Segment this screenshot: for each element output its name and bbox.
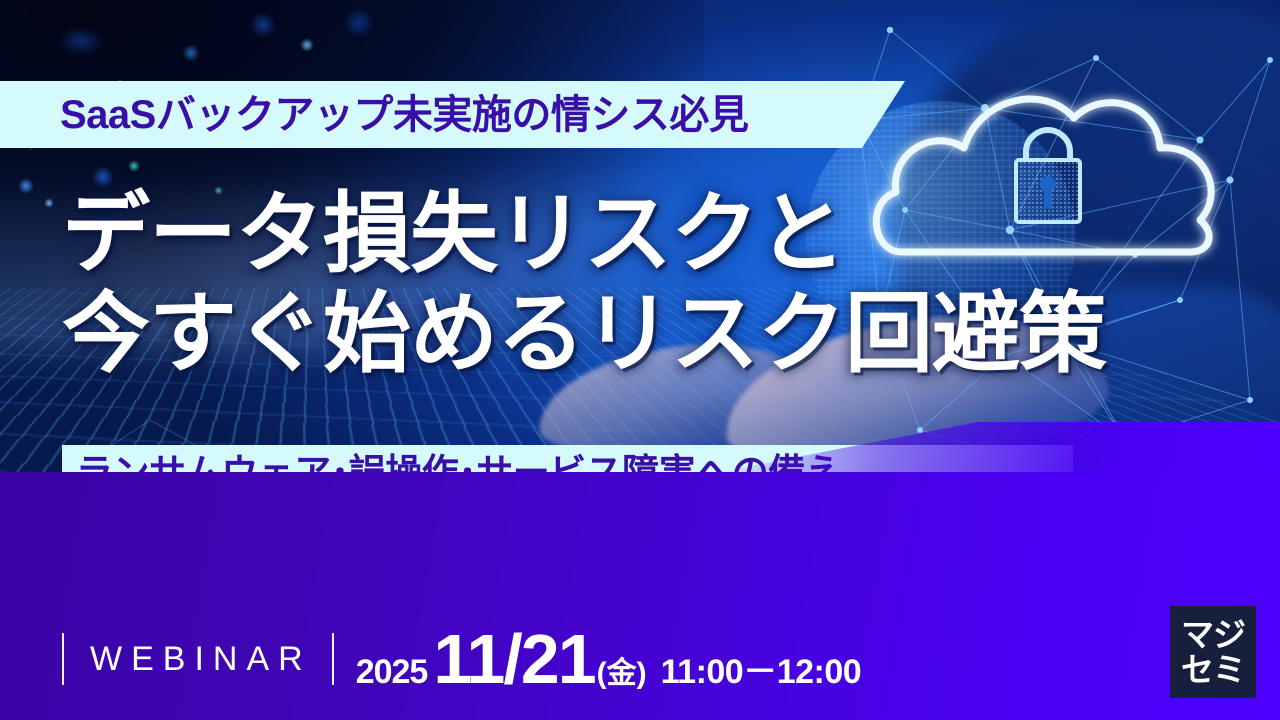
page-title: データ損失リスクと 今すぐ始めるリスク回避策 xyxy=(62,184,1172,385)
title-line-2: 今すぐ始めるリスク回避策 xyxy=(62,284,1172,384)
ribbon-text: SaaSバックアップ未実施の情シス必見 xyxy=(60,95,748,135)
event-day-of-week: (金) xyxy=(597,648,647,692)
ribbon-banner: SaaSバックアップ未実施の情シス必見 xyxy=(0,81,905,148)
title-line-1: データ損失リスクと xyxy=(62,184,1172,284)
footer-info: WEBINAR 2025 11/21 (金) 11:00－12:00 xyxy=(62,628,861,690)
event-datetime: 2025 11/21 (金) 11:00－12:00 xyxy=(356,624,861,694)
divider-left xyxy=(62,633,64,685)
event-year: 2025 xyxy=(356,653,428,692)
logo-line-1: マジ xyxy=(1181,618,1245,652)
webinar-banner: SaaSバックアップ未実施の情シス必見 データ損失リスクと 今すぐ始めるリスク回… xyxy=(0,0,1280,720)
divider-mid xyxy=(332,633,334,685)
majisemi-logo: マジ セミ xyxy=(1170,606,1256,698)
webinar-label: WEBINAR xyxy=(90,642,312,676)
logo-line-2: セミ xyxy=(1181,653,1245,687)
event-date: 11/21 xyxy=(433,624,594,694)
event-time: 11:00－12:00 xyxy=(661,644,862,693)
